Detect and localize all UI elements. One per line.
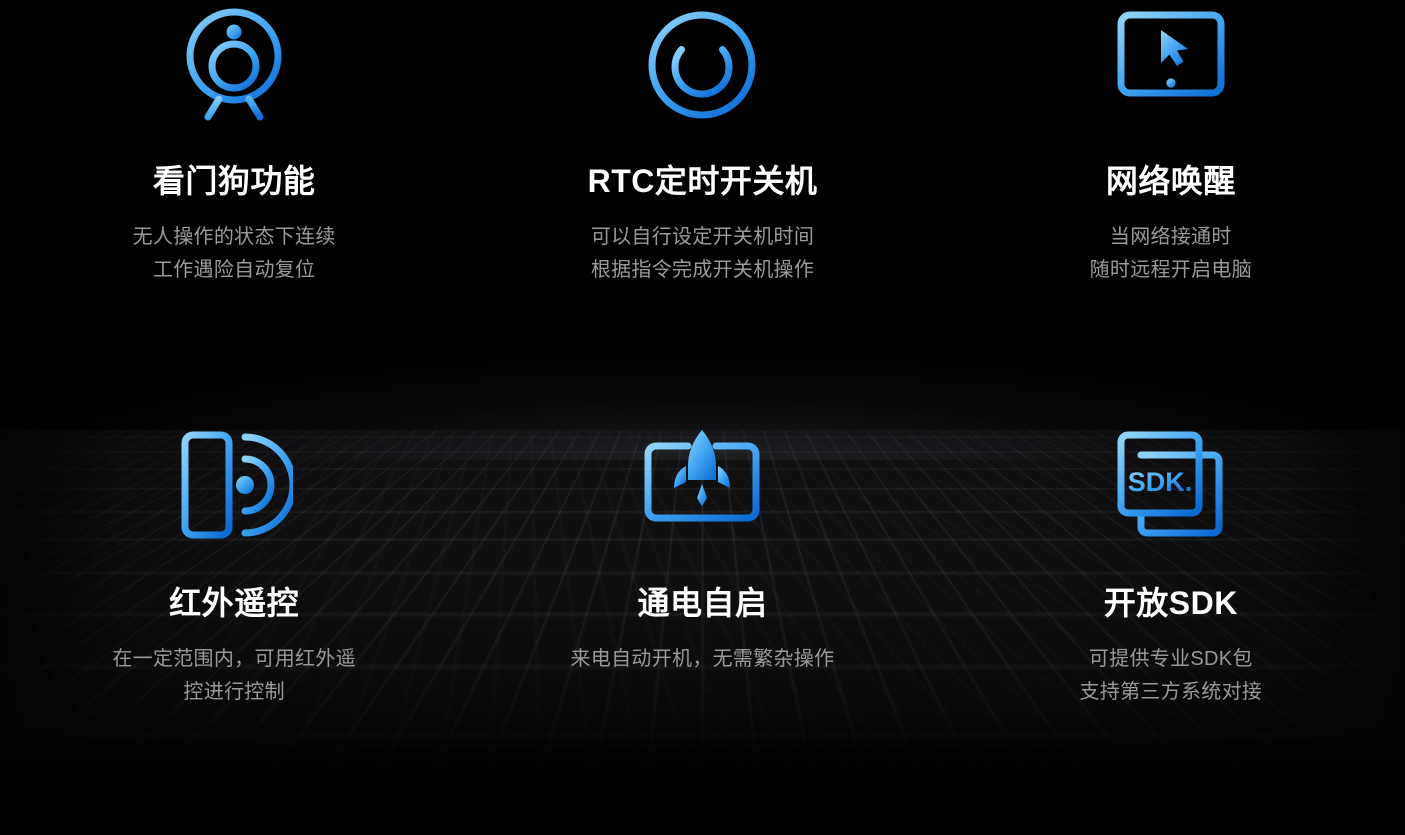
feature-card-power-on-autostart: 通电自启 来电自动开机，无需繁杂操作 xyxy=(468,420,936,835)
desc-line: 来电自动开机，无需繁杂操作 xyxy=(571,643,835,675)
desc-line: 可以自行设定开关机时间 xyxy=(591,221,814,253)
power-button-icon xyxy=(637,0,767,130)
feature-title: RTC定时开关机 xyxy=(588,164,818,199)
feature-description: 无人操作的状态下连续 工作遇险自动复位 xyxy=(133,221,336,286)
feature-card-open-sdk: SDK. 开放SDK 可提供专业SDK包 支持第三方系统对接 xyxy=(937,420,1405,835)
desc-line: 工作遇险自动复位 xyxy=(133,254,336,286)
desc-line: 支持第三方系统对接 xyxy=(1079,676,1262,708)
feature-description: 可以自行设定开关机时间 根据指令完成开关机操作 xyxy=(591,221,814,286)
desc-line: 当网络接通时 xyxy=(1090,221,1252,253)
desc-line: 控进行控制 xyxy=(112,676,356,708)
feature-title: 看门狗功能 xyxy=(153,164,316,199)
feature-description: 来电自动开机，无需繁杂操作 xyxy=(571,643,835,675)
feature-card-watchdog: 看门狗功能 无人操作的状态下连续 工作遇险自动复位 xyxy=(0,0,468,420)
feature-card-wake-on-lan: 网络唤醒 当网络接通时 随时远程开启电脑 xyxy=(937,0,1405,420)
feature-title: 通电自启 xyxy=(637,586,767,621)
sdk-windows-icon: SDK. xyxy=(1106,420,1236,550)
feature-grid: 看门狗功能 无人操作的状态下连续 工作遇险自动复位 RTC定时开关机 xyxy=(0,0,1405,835)
desc-line: 根据指令完成开关机操作 xyxy=(591,254,814,286)
desc-line: 随时远程开启电脑 xyxy=(1090,254,1252,286)
feature-title: 网络唤醒 xyxy=(1106,164,1236,199)
feature-description: 可提供专业SDK包 支持第三方系统对接 xyxy=(1079,643,1262,708)
feature-card-rtc: RTC定时开关机 可以自行设定开关机时间 根据指令完成开关机操作 xyxy=(468,0,936,420)
feature-description: 当网络接通时 随时远程开启电脑 xyxy=(1090,221,1252,286)
monitor-rocket-icon xyxy=(637,420,767,550)
feature-card-infrared-remote: 红外遥控 在一定范围内，可用红外遥 控进行控制 xyxy=(0,420,468,835)
desc-line: 在一定范围内，可用红外遥 xyxy=(112,643,356,675)
webcam-icon xyxy=(169,0,299,130)
feature-title: 开放SDK xyxy=(1104,586,1238,621)
desc-line: 无人操作的状态下连续 xyxy=(133,221,336,253)
feature-description: 在一定范围内，可用红外遥 控进行控制 xyxy=(112,643,356,708)
feature-title: 红外遥控 xyxy=(169,586,299,621)
monitor-cursor-icon xyxy=(1106,0,1236,130)
sdk-icon-label: SDK. xyxy=(1128,467,1193,497)
desc-line: 可提供专业SDK包 xyxy=(1079,643,1262,675)
infrared-remote-icon xyxy=(169,420,299,550)
